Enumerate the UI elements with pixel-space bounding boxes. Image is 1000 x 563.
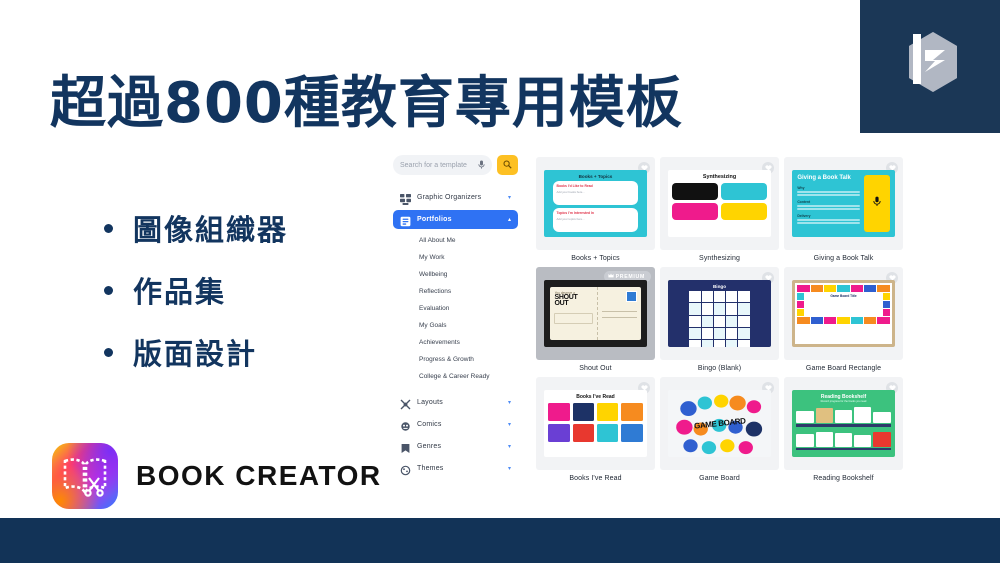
quadrant xyxy=(721,183,767,200)
thumb-title: Bingo xyxy=(713,284,726,289)
bullet-dot-icon xyxy=(104,348,113,357)
book-covers xyxy=(548,403,642,442)
thumb-book-talk: Giving a Book Talk Why Content Delivery xyxy=(792,170,894,237)
bullet-label: 版面設計 xyxy=(133,331,257,373)
thumb-title: Synthesizing xyxy=(672,174,766,180)
bullet-label: 作品集 xyxy=(133,269,226,311)
thumb-shout-out: You deserve a SHOUT OUT xyxy=(544,280,646,347)
chevron-down-icon[interactable]: ▾ xyxy=(508,399,511,406)
template-thumbnail[interactable]: Game Board Title xyxy=(784,267,903,360)
bullet-label: 圖像組織器 xyxy=(133,207,288,249)
sidebar-subitem-my-work[interactable]: My Work xyxy=(393,249,518,266)
chevron-down-icon[interactable]: ▾ xyxy=(508,421,511,428)
microphone-icon xyxy=(873,194,881,212)
sidebar-item-portfolios[interactable]: Portfolios ▴ xyxy=(393,210,518,229)
template-thumbnail[interactable]: Reading Bookshelf Record progress for th… xyxy=(784,377,903,470)
board-inner: Game Board Title xyxy=(795,283,891,344)
thumb-line: Add your books here... xyxy=(557,190,635,194)
bullet-dot-icon xyxy=(104,224,113,233)
sidebar-item-comics[interactable]: Comics ▾ xyxy=(393,415,518,434)
template-thumbnail[interactable]: Synthesizing xyxy=(660,157,779,250)
quadrant xyxy=(672,203,718,220)
sidebar-subitem-college-career-ready[interactable]: College & Career Ready xyxy=(393,368,518,385)
thumb-line: Books I'd Like to Read xyxy=(557,184,635,188)
list-item: 圖像組織器 xyxy=(104,207,288,249)
thumb-reading-bookshelf: Reading Bookshelf Record progress for th… xyxy=(792,390,894,457)
search-button[interactable] xyxy=(497,155,518,175)
thumb-left: Giving a Book Talk Why Content Delivery xyxy=(797,175,859,232)
template-card[interactable]: PREMIUM You deserve a SHOUT OUT xyxy=(536,267,655,372)
chevron-down-icon[interactable]: ▾ xyxy=(508,194,511,201)
sidebar-item-label: Themes xyxy=(417,465,508,472)
thumb-line: Topics I'm Interested In xyxy=(557,211,635,215)
sidebar-item-label: Genres xyxy=(417,443,508,450)
board-title: Game Board Title xyxy=(804,293,882,316)
sidebar-item-layouts[interactable]: Layouts ▾ xyxy=(393,393,518,412)
template-grid-area: Books + Topics Books I'd Like to Read Ad… xyxy=(528,143,911,506)
template-thumbnail[interactable]: Bingo xyxy=(660,267,779,360)
template-thumbnail[interactable]: PREMIUM You deserve a SHOUT OUT xyxy=(536,267,655,360)
sidebar-item-genres[interactable]: Genres ▾ xyxy=(393,437,518,456)
microphone-icon[interactable] xyxy=(478,156,485,174)
template-label: Game Board Rectangle xyxy=(784,365,903,372)
template-card[interactable]: Books + Topics Books I'd Like to Read Ad… xyxy=(536,157,655,262)
template-label: Books I've Read xyxy=(536,475,655,482)
thumb-line: Add your topics here... xyxy=(557,217,635,221)
search-row: Search for a template xyxy=(393,155,518,175)
comics-icon xyxy=(400,419,411,430)
bullet-dot-icon xyxy=(104,286,113,295)
template-label: Reading Bookshelf xyxy=(784,475,903,482)
genres-icon xyxy=(400,441,411,452)
search-placeholder: Search for a template xyxy=(400,162,478,169)
feature-bullet-list: 圖像組織器 作品集 版面設計 xyxy=(104,207,288,393)
layouts-icon xyxy=(400,397,411,408)
sidebar-item-label: Comics xyxy=(417,421,508,428)
template-card[interactable]: Synthesizing Synthesizing xyxy=(660,157,779,262)
sidebar-item-graphic-organizers[interactable]: Graphic Organizers ▾ xyxy=(393,188,518,207)
chevron-down-icon[interactable]: ▾ xyxy=(508,465,511,472)
sidebar-subitem-my-goals[interactable]: My Goals xyxy=(393,317,518,334)
portfolio-icon xyxy=(400,214,411,225)
quadrant xyxy=(721,203,767,220)
template-card[interactable]: Books I've Read Books I've Read xyxy=(536,377,655,482)
thumb-title: Giving a Book Talk xyxy=(797,175,859,182)
template-grid: Books + Topics Books I'd Like to Read Ad… xyxy=(536,157,903,482)
thumb-left: You deserve a SHOUT OUT xyxy=(550,287,596,341)
sidebar-subitem-wellbeing[interactable]: Wellbeing xyxy=(393,266,518,283)
template-sidebar: Search for a template Graphic Organizers… xyxy=(383,143,528,506)
template-thumbnail[interactable]: GAME BOARD xyxy=(660,377,779,470)
thumb-box: Topics I'm Interested In Add your topics… xyxy=(553,208,639,232)
sidebar-item-label: Layouts xyxy=(417,399,508,406)
template-picker-screenshot: ✕ Search for a template Graphic Organiz xyxy=(383,143,911,506)
template-label: Giving a Book Talk xyxy=(784,255,903,262)
grid-icon xyxy=(400,192,411,203)
premium-label: PREMIUM xyxy=(616,274,645,280)
search-icon xyxy=(503,156,512,174)
thumb-bingo: Bingo xyxy=(668,280,770,347)
book-creator-logo: BOOK CREATOR xyxy=(52,443,382,509)
themes-icon xyxy=(400,463,411,474)
thumb-synthesizing: Synthesizing xyxy=(668,170,770,237)
book-scissors-icon xyxy=(52,443,118,509)
list-item: 作品集 xyxy=(104,269,288,311)
quadrant xyxy=(672,183,718,200)
list-item: 版面設計 xyxy=(104,331,288,373)
sidebar-item-themes[interactable]: Themes ▾ xyxy=(393,459,518,478)
template-category-nav: Graphic Organizers ▾ Portfolios ▴ All Ab… xyxy=(393,188,518,478)
thumb-section: Delivery xyxy=(797,214,859,218)
chevron-down-icon[interactable]: ▾ xyxy=(508,443,511,450)
template-label: Books + Topics xyxy=(536,255,655,262)
thumb-title: SHOUT OUT xyxy=(554,295,592,308)
template-card[interactable]: Reading Bookshelf Record progress for th… xyxy=(784,377,903,482)
thumb-right xyxy=(597,287,641,341)
template-card[interactable]: GAME BOARD Game Board xyxy=(660,377,779,482)
thumb-title: GAME BOARD xyxy=(693,416,745,430)
sidebar-subitem-reflections[interactable]: Reflections xyxy=(393,283,518,300)
bottom-navy-band xyxy=(0,518,1000,563)
board-tiles-top xyxy=(797,285,889,292)
thumb-game-board-rect: Game Board Title xyxy=(792,280,894,347)
sidebar-subitem-evaluation[interactable]: Evaluation xyxy=(393,300,518,317)
template-thumbnail[interactable]: Books I've Read xyxy=(536,377,655,470)
page-title: 超過800種教育專用模板 xyxy=(50,58,683,139)
spacer xyxy=(393,385,518,393)
search-input[interactable]: Search for a template xyxy=(393,155,492,175)
sidebar-item-label: Graphic Organizers xyxy=(417,194,508,201)
shelf-row xyxy=(796,406,890,423)
brand-badge xyxy=(860,0,1000,133)
template-thumbnail[interactable]: Books + Topics Books I'd Like to Read Ad… xyxy=(536,157,655,250)
chevron-up-icon[interactable]: ▴ xyxy=(508,216,511,223)
thumb-title: Books + Topics xyxy=(579,174,613,179)
template-card[interactable]: Game Board Title Game Board Rectangle xyxy=(784,267,903,372)
thumb-quadrants xyxy=(672,183,766,220)
template-thumbnail[interactable]: Giving a Book Talk Why Content Delivery xyxy=(784,157,903,250)
thumb-books-topics: Books + Topics Books I'd Like to Read Ad… xyxy=(544,170,646,237)
thumb-title: Books I've Read xyxy=(548,394,642,400)
template-label: Game Board xyxy=(660,475,779,482)
template-label: Synthesizing xyxy=(660,255,779,262)
shelf-row xyxy=(796,430,890,447)
bingo-grid xyxy=(689,291,749,347)
crown-icon xyxy=(608,273,614,280)
thumb-game-board: GAME BOARD xyxy=(668,390,770,457)
sidebar-item-label: Portfolios xyxy=(417,216,508,223)
sidebar-subitem-achievements[interactable]: Achievements xyxy=(393,334,518,351)
template-card[interactable]: Giving a Book Talk Why Content Delivery xyxy=(784,157,903,262)
thumb-section: Content xyxy=(797,200,859,204)
thumb-card: You deserve a SHOUT OUT xyxy=(550,287,640,341)
template-card[interactable]: Bingo Bingo (Blank) xyxy=(660,267,779,372)
sidebar-subitem-all-about-me[interactable]: All About Me xyxy=(393,232,518,249)
thumb-box: Books I'd Like to Read Add your books he… xyxy=(553,181,639,205)
b-hexagon-logo-icon xyxy=(899,28,961,105)
template-label: Shout Out xyxy=(536,365,655,372)
board-tiles-bottom xyxy=(797,317,889,324)
template-label: Bingo (Blank) xyxy=(660,365,779,372)
thumb-books-read: Books I've Read xyxy=(544,390,646,457)
thumb-subtitle: Record progress for the books you read xyxy=(796,400,890,403)
sidebar-subitem-progress-growth[interactable]: Progress & Growth xyxy=(393,351,518,368)
logo-wordmark: BOOK CREATOR xyxy=(136,460,382,492)
thumb-mic-panel xyxy=(864,175,890,232)
thumb-section: Why xyxy=(797,186,859,190)
